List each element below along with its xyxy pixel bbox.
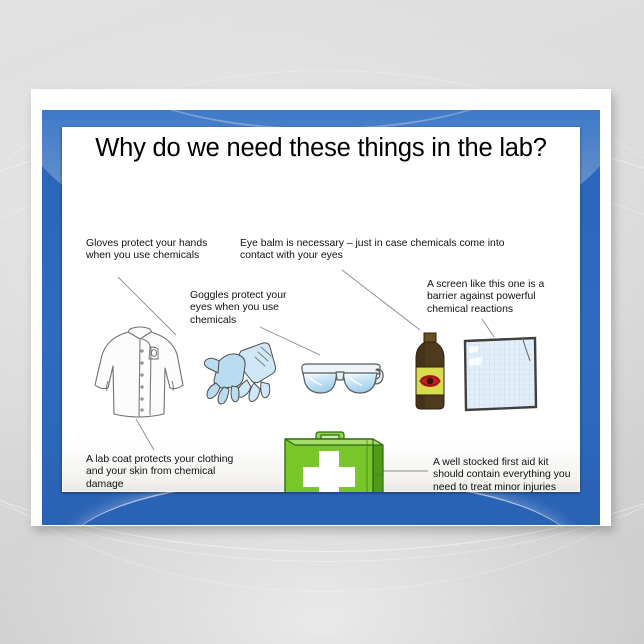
- callout-goggles: Goggles protect your eyes when you use c…: [190, 290, 308, 327]
- page-background: Why do we need these things in the lab?: [0, 0, 644, 644]
- page-title: Why do we need these things in the lab?: [62, 133, 580, 163]
- callout-eye-balm: Eye balm is necessary – just in case che…: [240, 238, 540, 263]
- first-aid-kit-illustration: [277, 429, 387, 492]
- callout-lab-coat: A lab coat protects your clothing and yo…: [86, 454, 246, 491]
- connector-eye-balm: [342, 270, 420, 330]
- gloves-illustration: [203, 335, 287, 419]
- poster-canvas: Why do we need these things in the lab?: [62, 127, 580, 492]
- callout-gloves: Gloves protect your hands when you use c…: [86, 238, 212, 263]
- poster-frame: Why do we need these things in the lab?: [42, 110, 600, 525]
- callout-first-aid: A well stocked first aid kit should cont…: [433, 457, 578, 492]
- callout-screen: A screen like this one is a barrier agai…: [427, 279, 567, 316]
- lab-coat-illustration: [92, 323, 188, 427]
- goggles-illustration: [298, 355, 384, 405]
- screen-illustration: [460, 335, 540, 415]
- bottle-illustration: [410, 331, 450, 411]
